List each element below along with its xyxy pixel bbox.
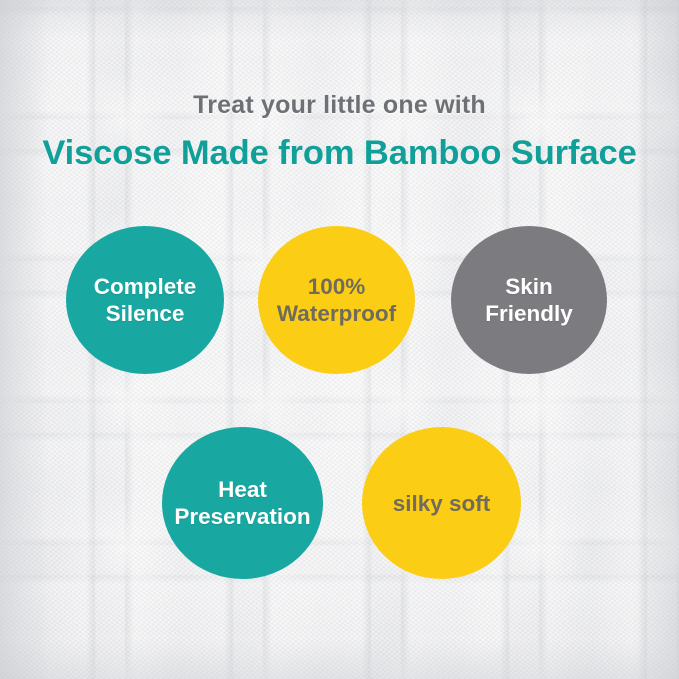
page-title: Viscose Made from Bamboo Surface [0, 134, 679, 173]
feature-bubble-waterproof: 100%Waterproof [258, 226, 415, 374]
feature-label-line-2: Silence [106, 301, 185, 326]
feature-label-line-1: silky soft [393, 491, 491, 516]
feature-label-line-1: Complete [94, 274, 197, 299]
headline-block: Treat your little one with Viscose Made … [0, 92, 679, 172]
feature-bubble-label: SkinFriendly [451, 273, 607, 327]
feature-bubble-label: HeatPreservation [162, 476, 323, 530]
feature-label-line-1: Skin [505, 274, 553, 299]
feature-label-line-2: Waterproof [277, 301, 396, 326]
feature-bubble-label: silky soft [362, 490, 521, 517]
feature-label-line-2: Friendly [485, 301, 573, 326]
feature-label-line-2: Preservation [174, 504, 310, 529]
feature-bubble-heat-preservation: HeatPreservation [162, 427, 323, 579]
feature-bubble-silky-soft: silky soft [362, 427, 521, 579]
feature-bubble-label: 100%Waterproof [258, 273, 415, 327]
feature-label-line-1: Heat [218, 477, 267, 502]
product-feature-graphic: Treat your little one with Viscose Made … [0, 0, 679, 679]
feature-bubble-skin-friendly: SkinFriendly [451, 226, 607, 374]
feature-bubble-label: CompleteSilence [66, 273, 224, 327]
feature-label-line-1: 100% [308, 274, 366, 299]
feature-bubble-complete-silence: CompleteSilence [66, 226, 224, 374]
eyebrow-text: Treat your little one with [0, 92, 679, 120]
